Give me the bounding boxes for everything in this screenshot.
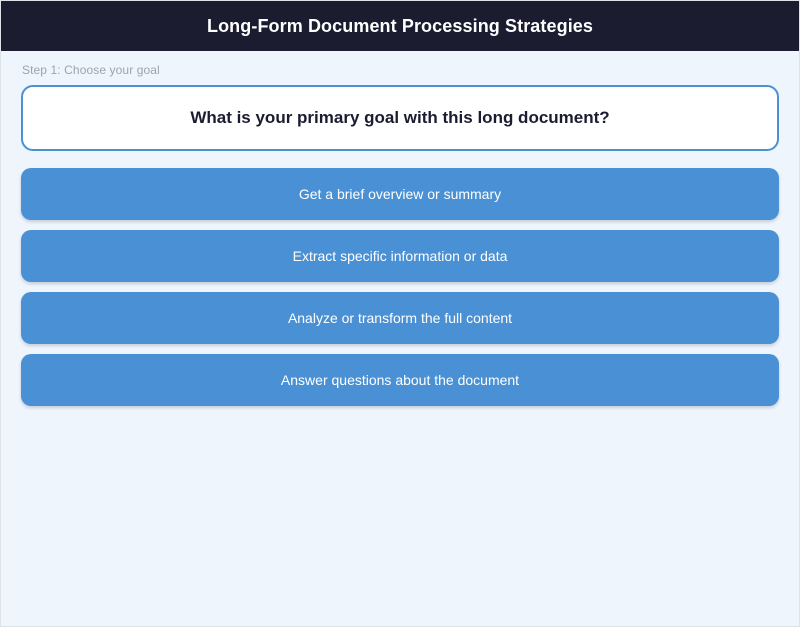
option-label: Extract specific information or data (293, 248, 508, 265)
option-button-analyze[interactable]: Analyze or transform the full content (21, 292, 779, 344)
wizard-body: Step 1: Choose your goal What is your pr… (1, 51, 799, 626)
option-label: Get a brief overview or summary (299, 186, 501, 203)
step-indicator-label: Step 1: Choose your goal (22, 62, 779, 78)
content-spacer (21, 406, 779, 626)
app-header: Long-Form Document Processing Strategies (1, 1, 799, 51)
option-label: Answer questions about the document (281, 372, 519, 389)
app-root: Long-Form Document Processing Strategies… (0, 0, 800, 627)
option-button-overview[interactable]: Get a brief overview or summary (21, 168, 779, 220)
question-text: What is your primary goal with this long… (190, 108, 609, 128)
option-button-answer-questions[interactable]: Answer questions about the document (21, 354, 779, 406)
question-card: What is your primary goal with this long… (21, 85, 779, 151)
page-title: Long-Form Document Processing Strategies (207, 17, 593, 35)
option-button-extract[interactable]: Extract specific information or data (21, 230, 779, 282)
option-label: Analyze or transform the full content (288, 310, 512, 327)
options-list: Get a brief overview or summary Extract … (21, 168, 779, 406)
